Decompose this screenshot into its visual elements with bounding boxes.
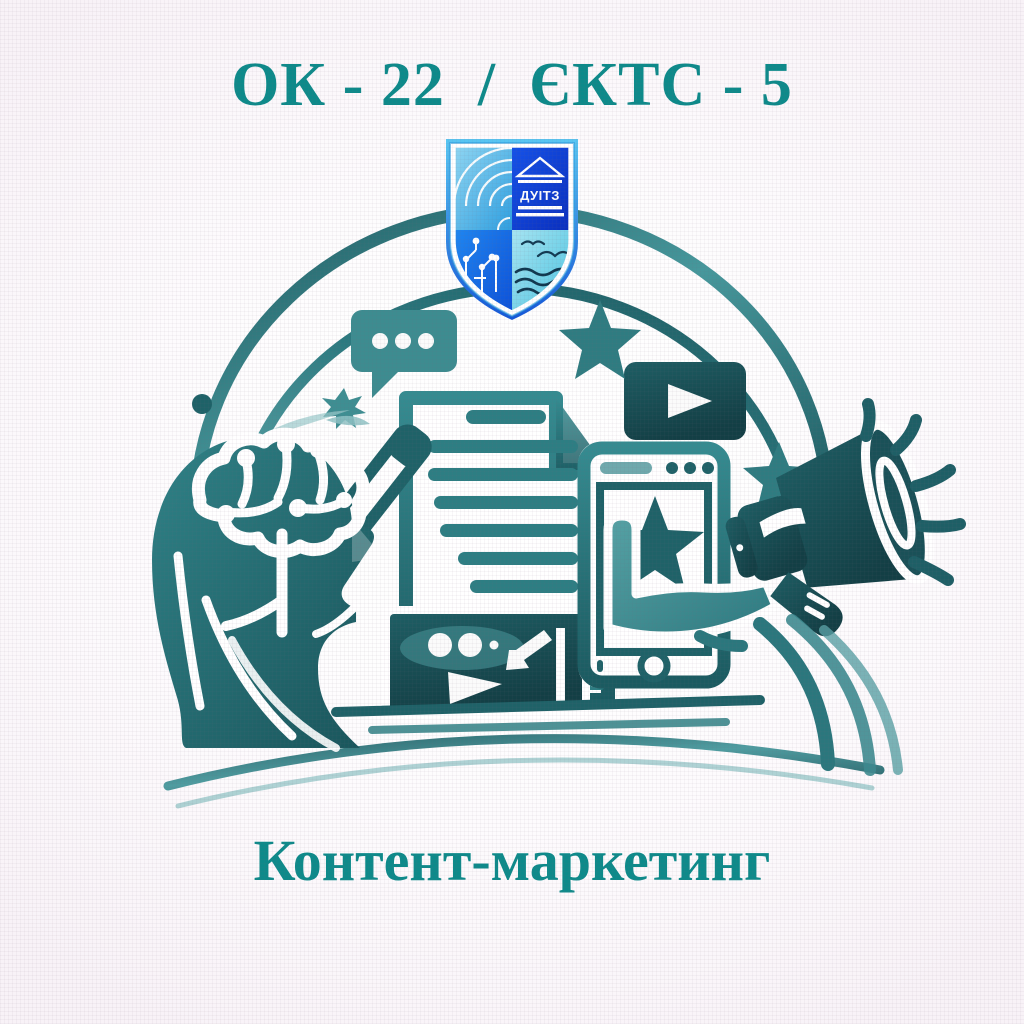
smartphone[interactable] <box>578 442 730 688</box>
dot <box>192 394 212 414</box>
course-title: Контент-маркетинг <box>0 832 1024 890</box>
speech-bubble <box>351 310 457 398</box>
poster-canvas: ОК - 22 / ЄКТС - 5 <box>0 0 1024 1024</box>
bottom-sweep <box>168 739 880 806</box>
university-shield-emblem: ДУІТЗ <box>438 132 586 322</box>
page-title-course-code: ОК - 22 / ЄКТС - 5 <box>0 54 1024 116</box>
head-profile <box>152 436 374 748</box>
flick-mark <box>326 416 370 426</box>
shield-abbreviation: ДУІТЗ <box>520 188 560 203</box>
